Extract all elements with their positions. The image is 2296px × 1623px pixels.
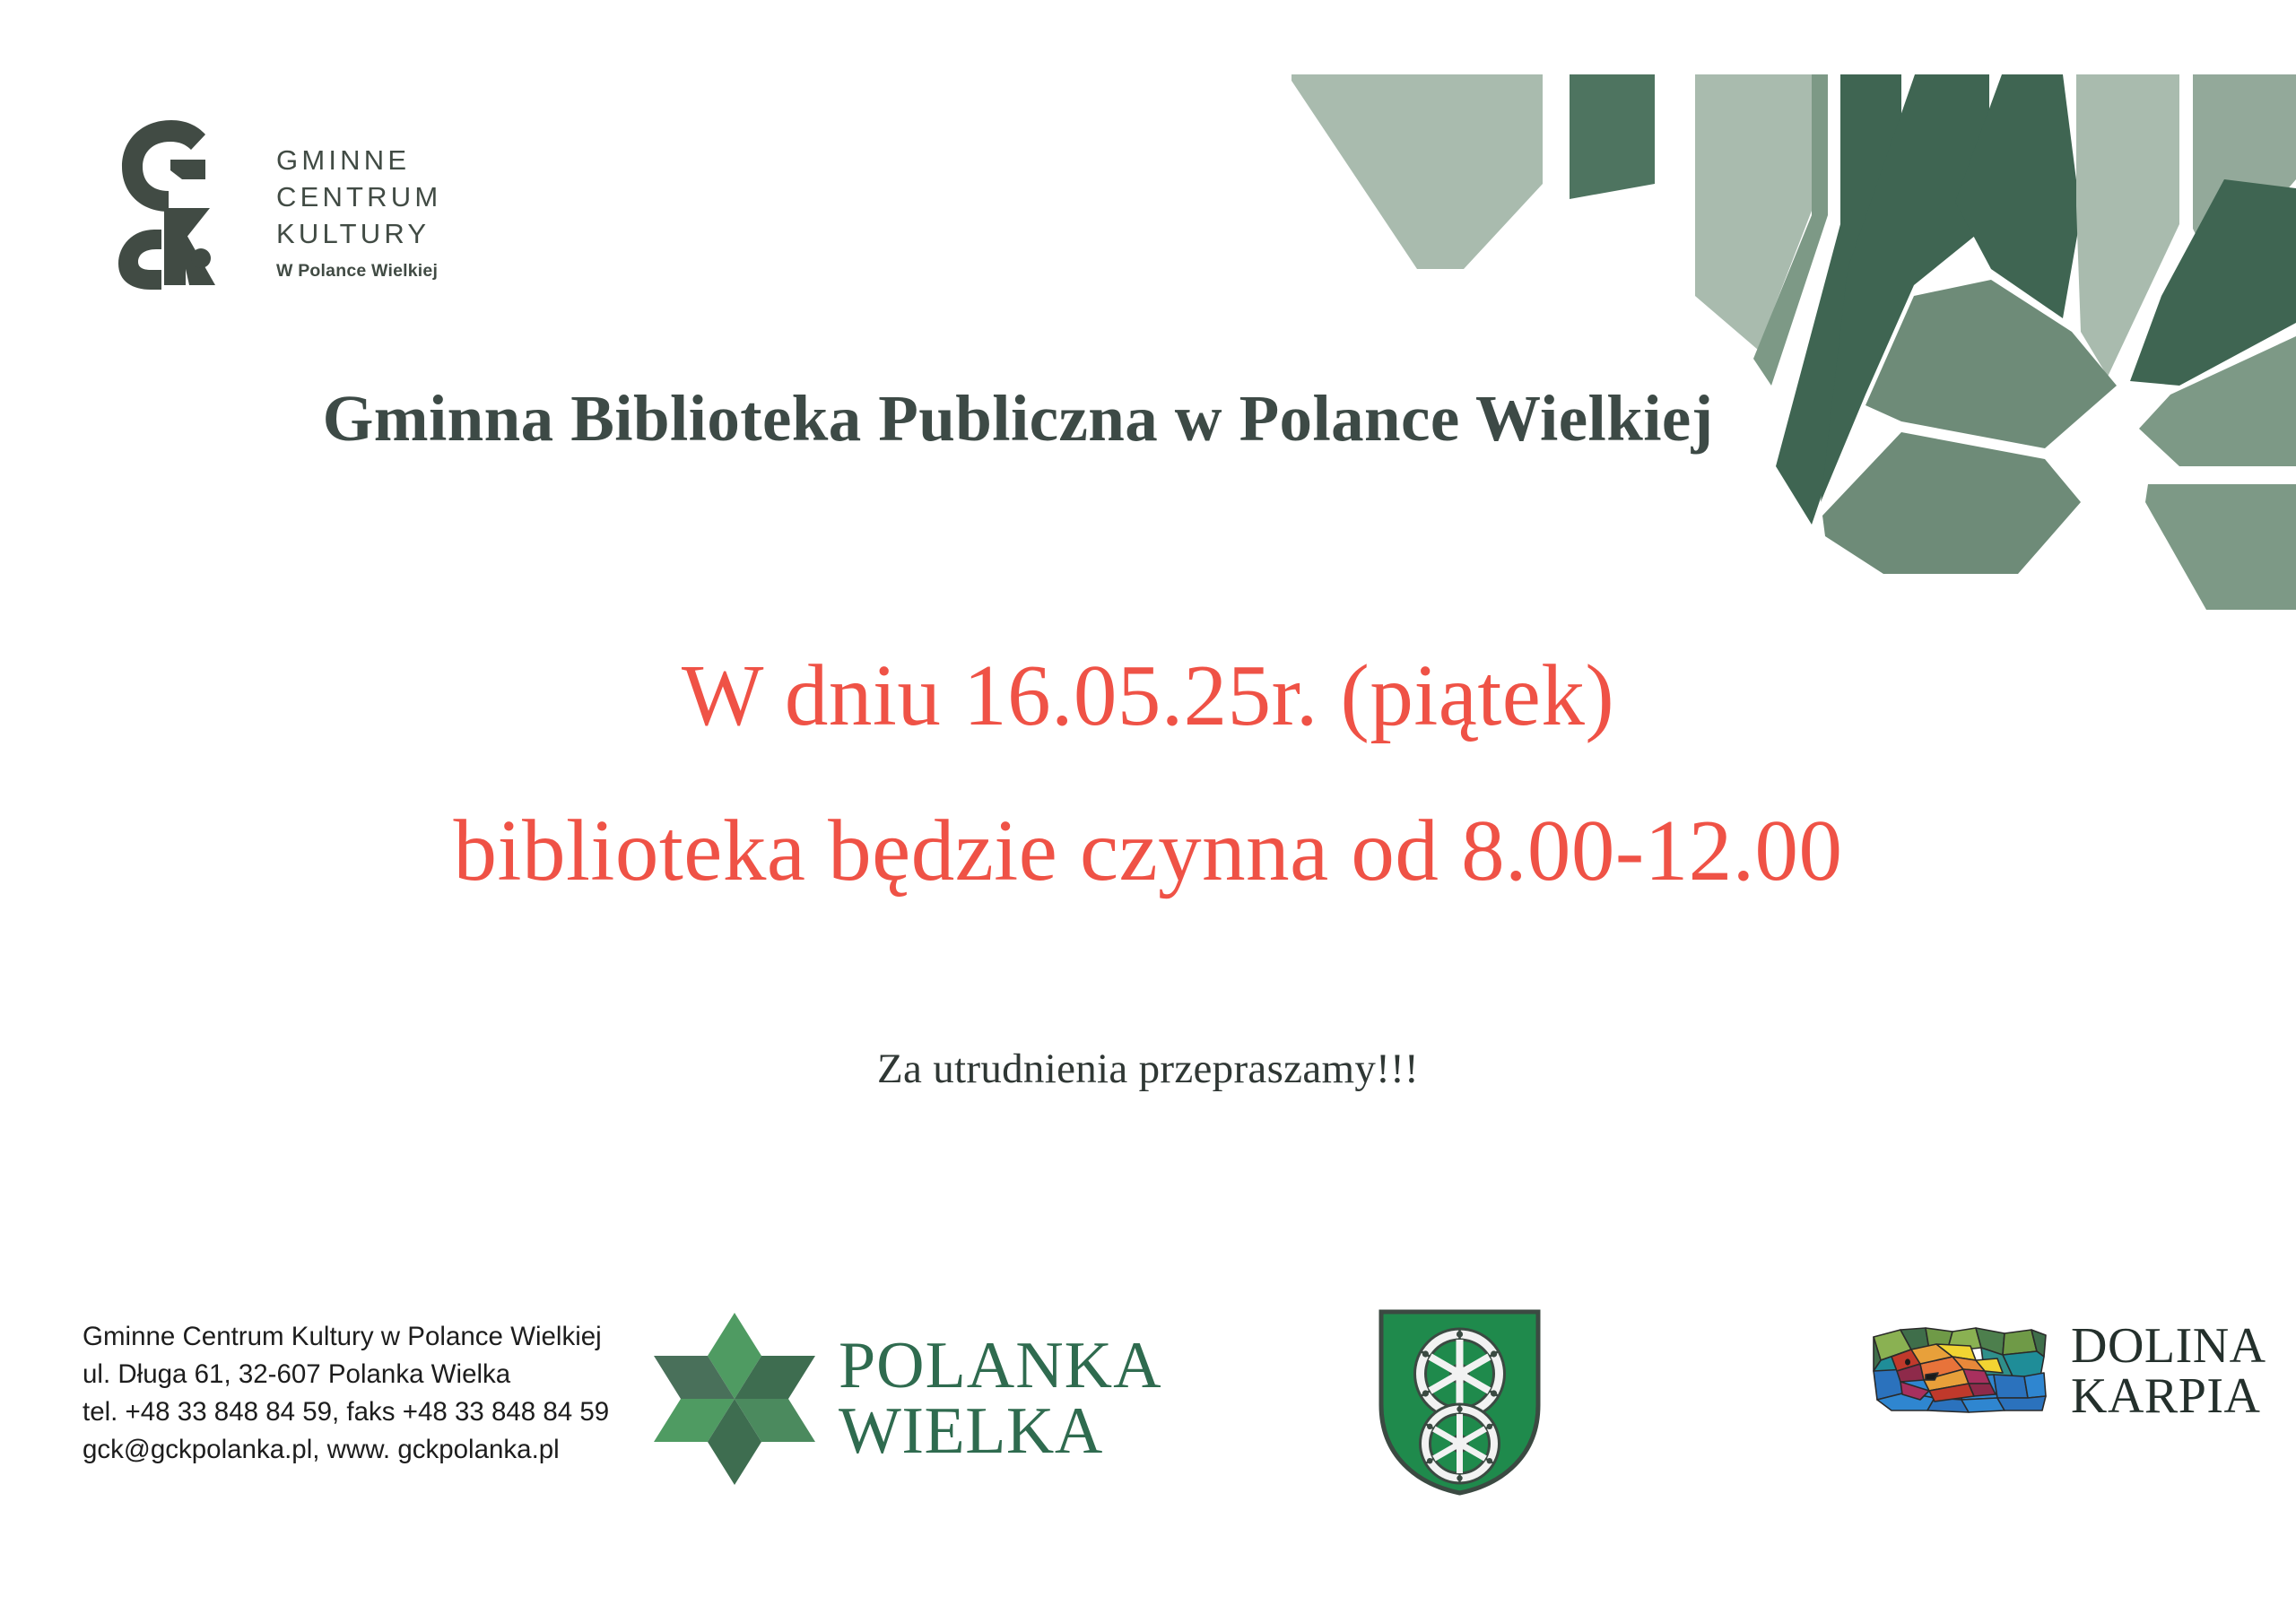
address-line-org: Gminne Centrum Kultury w Polance Wielkie… [83, 1318, 609, 1356]
shard-group [1291, 74, 2296, 610]
dolina-karpia-logo: DOLINA KARPIA [1870, 1321, 2266, 1421]
address-line-phone: tel. +48 33 848 84 59, faks +48 33 848 8… [83, 1393, 609, 1431]
announcement-text: W dniu 16.05.25r. (piątek) biblioteka bę… [0, 619, 2296, 928]
gck-line-kultury: KULTURY [276, 215, 441, 252]
contact-address-block: Gminne Centrum Kultury w Polance Wielkie… [83, 1318, 609, 1469]
gck-logo: GMINNE CENTRUM KULTURY W Polance Wielkie… [115, 115, 441, 290]
address-line-email: gck@gckpolanka.pl, www. gckpolanka.pl [83, 1431, 609, 1469]
address-line-street: ul. Długa 61, 32-607 Polanka Wielka [83, 1356, 609, 1393]
polanka-line-2: WIELKA [839, 1399, 1162, 1464]
green-geometric-shards-decoration [1274, 0, 2296, 610]
announcement-line-2: biblioteka będzie czynna od 8.00-12.00 [0, 774, 2296, 929]
apology-text: Za utrudnienia przepraszamy!!! [0, 1045, 2296, 1093]
polanka-wielka-coat-of-arms-icon [1372, 1305, 1547, 1497]
carp-mosaic-icon [1870, 1324, 2048, 1418]
shard-mid-13 [2139, 336, 2296, 466]
shard-mid-9 [2193, 74, 2296, 273]
poster-page: GMINNE CENTRUM KULTURY W Polance Wielkie… [0, 0, 2296, 1623]
gck-line-gminne: GMINNE [276, 142, 441, 178]
shard-light-8 [2076, 74, 2179, 377]
shard-mid-14 [2145, 484, 2296, 610]
polanka-wordmark: POLANKA WIELKA [839, 1333, 1162, 1465]
gck-line-location: W Polance Wielkiej [276, 261, 441, 282]
gck-monogram-icon [115, 115, 251, 290]
gck-wordmark: GMINNE CENTRUM KULTURY W Polance Wielkie… [276, 115, 441, 282]
karpia-line-1: DOLINA [2071, 1321, 2266, 1371]
shard-light-3 [1695, 74, 1812, 350]
shard-light-1 [1291, 74, 1543, 269]
shard-dark-7 [1955, 74, 2081, 318]
gck-line-centrum: CENTRUM [276, 178, 441, 215]
six-rhombus-star-icon [650, 1309, 819, 1488]
shard-dark-12 [2130, 179, 2296, 386]
announcement-line-1: W dniu 16.05.25r. (piątek) [0, 619, 2296, 774]
mill-wheel-lower [1421, 1404, 1500, 1483]
polanka-line-1: POLANKA [839, 1333, 1162, 1399]
page-title: Gminna Biblioteka Publiczna w Polance Wi… [0, 381, 2036, 456]
karpia-line-2: KARPIA [2071, 1371, 2266, 1421]
dolina-karpia-wordmark: DOLINA KARPIA [2071, 1321, 2266, 1421]
coat-of-arms [1372, 1305, 1547, 1497]
shard-dark-5 [1776, 74, 1901, 525]
shard-mid-4 [1753, 74, 1828, 386]
polanka-wielka-logo: POLANKA WIELKA [650, 1309, 1162, 1488]
footer: Gminne Centrum Kultury w Polance Wielkie… [0, 1305, 2296, 1529]
shard-dark-2 [1570, 74, 1655, 199]
